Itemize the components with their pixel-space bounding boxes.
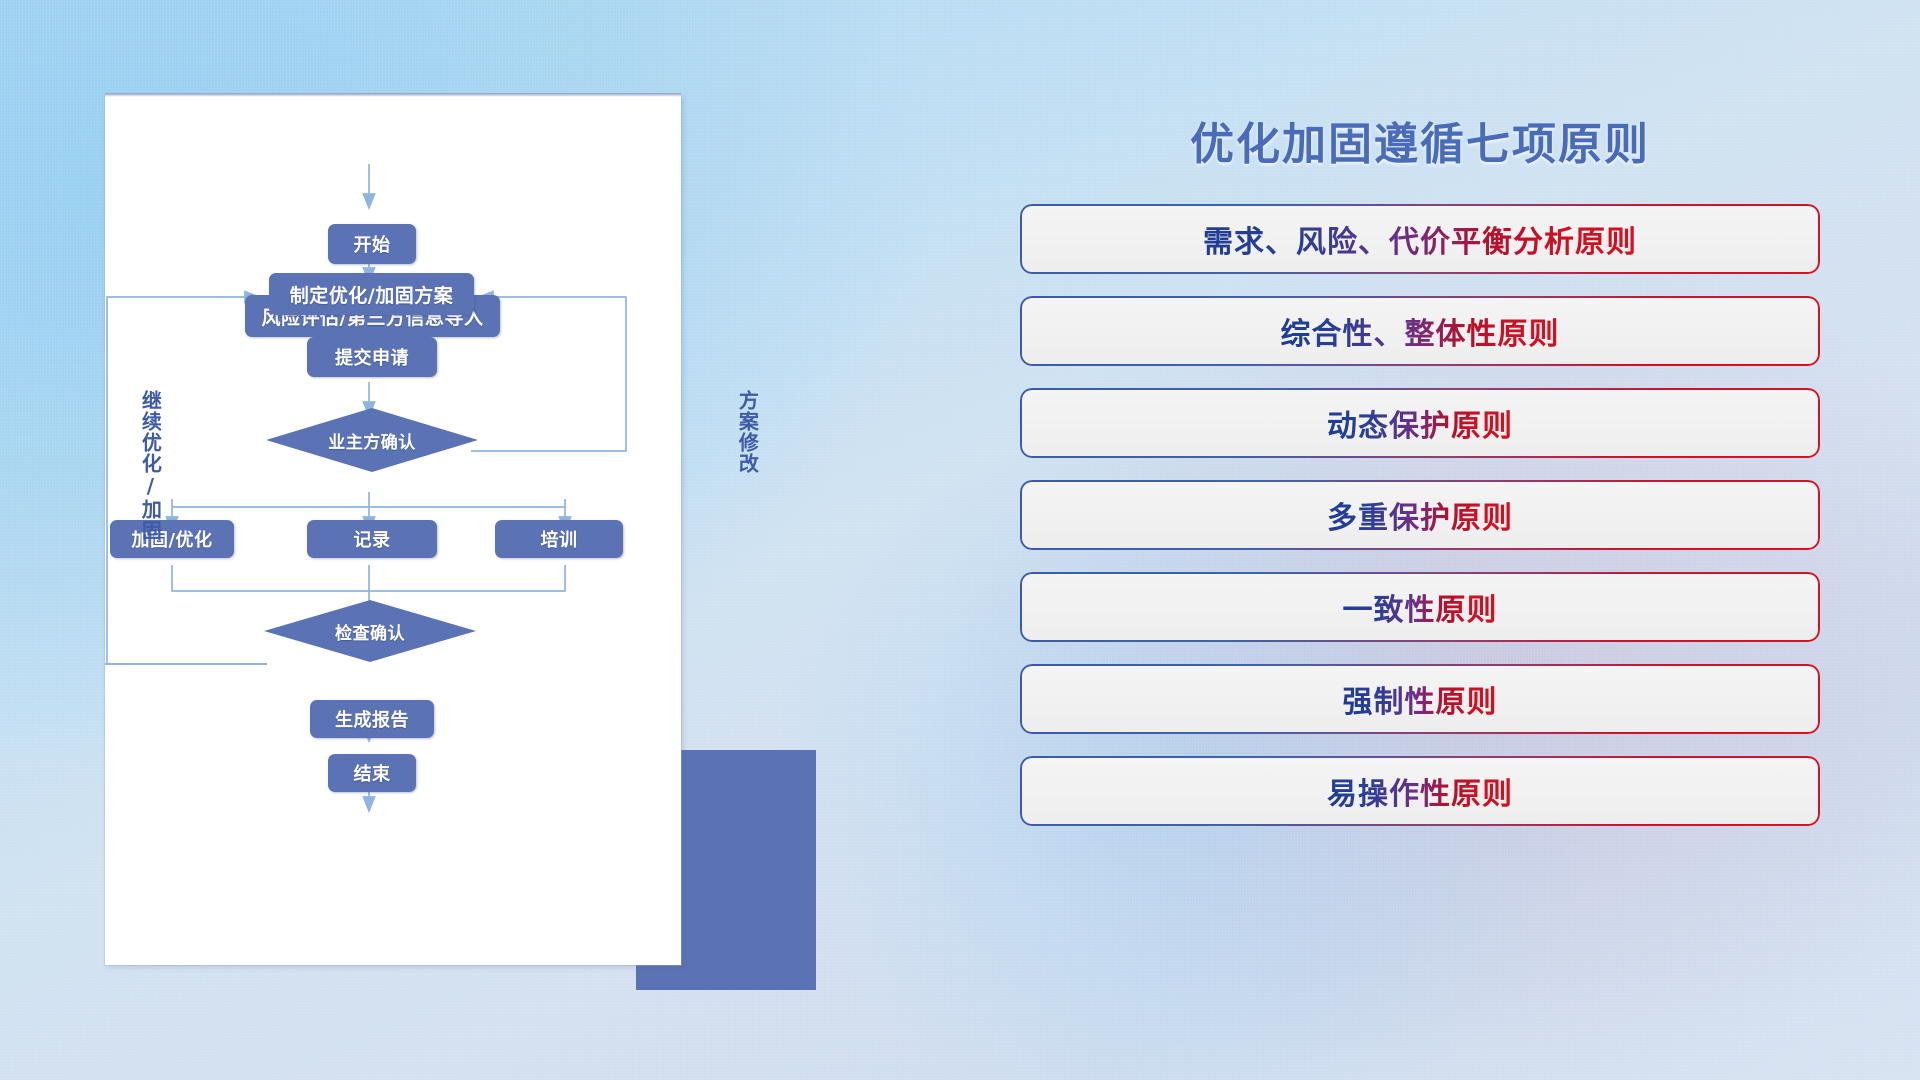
principle-card-label: 动态保护原则 [1327, 401, 1513, 445]
flow-node-label: 培训 [541, 526, 578, 552]
flow-node-label: 业主方确认 [328, 428, 416, 453]
principle-card-label: 综合性、整体性原则 [1281, 309, 1560, 353]
flow-node-training[interactable]: 培训 [495, 520, 623, 558]
principle-card[interactable]: 一致性原则 [1020, 572, 1820, 642]
flow-node-label: 结束 [354, 760, 391, 786]
principle-card[interactable]: 需求、风险、代价平衡分析原则 [1020, 204, 1820, 274]
principle-card[interactable]: 动态保护原则 [1020, 388, 1820, 458]
principle-card[interactable]: 综合性、整体性原则 [1020, 296, 1820, 366]
principle-card-label: 多重保护原则 [1327, 493, 1513, 537]
principles-title: 优化加固遵循七项原则 [1020, 108, 1820, 172]
flow-node-end[interactable]: 结束 [328, 754, 416, 792]
flow-node-report[interactable]: 生成报告 [310, 700, 434, 738]
principle-card-label: 需求、风险、代价平衡分析原则 [1203, 217, 1637, 261]
flow-node-plan[interactable]: 制定优化/加固方案 [269, 273, 474, 315]
flow-node-submit[interactable]: 提交申请 [307, 337, 437, 377]
flow-node-label: 生成报告 [335, 706, 409, 732]
principle-card[interactable]: 易操作性原则 [1020, 756, 1820, 826]
flow-node-label: 开始 [354, 231, 391, 257]
principle-card[interactable]: 强制性原则 [1020, 664, 1820, 734]
principle-card-label: 强制性原则 [1343, 677, 1498, 721]
flow-node-harden[interactable]: 加固/优化 [110, 520, 234, 558]
flow-node-start[interactable]: 开始 [328, 224, 416, 264]
principle-card[interactable]: 多重保护原则 [1020, 480, 1820, 550]
principles-card-list: 需求、风险、代价平衡分析原则 综合性、整体性原则 动态保护原则 多重保护原则 一… [1020, 204, 1820, 826]
flow-node-owner-confirm[interactable]: 业主方确认 [266, 408, 478, 472]
flow-edge-label-continue-optimize: 继续优化/加固 [140, 390, 160, 541]
flow-edge-label-plan-revision: 方案修改 [737, 390, 757, 474]
flow-node-check-confirm[interactable]: 检查确认 [264, 600, 476, 662]
flow-node-label: 制定优化/加固方案 [290, 281, 453, 308]
flow-node-label: 提交申请 [335, 344, 409, 370]
flow-node-label: 检查确认 [335, 619, 405, 644]
flow-node-record[interactable]: 记录 [307, 520, 437, 558]
principle-card-label: 易操作性原则 [1327, 769, 1513, 813]
flow-node-label: 记录 [354, 526, 391, 552]
principles-panel: 优化加固遵循七项原则 需求、风险、代价平衡分析原则 综合性、整体性原则 动态保护… [1020, 100, 1820, 990]
principle-card-label: 一致性原则 [1343, 585, 1498, 629]
